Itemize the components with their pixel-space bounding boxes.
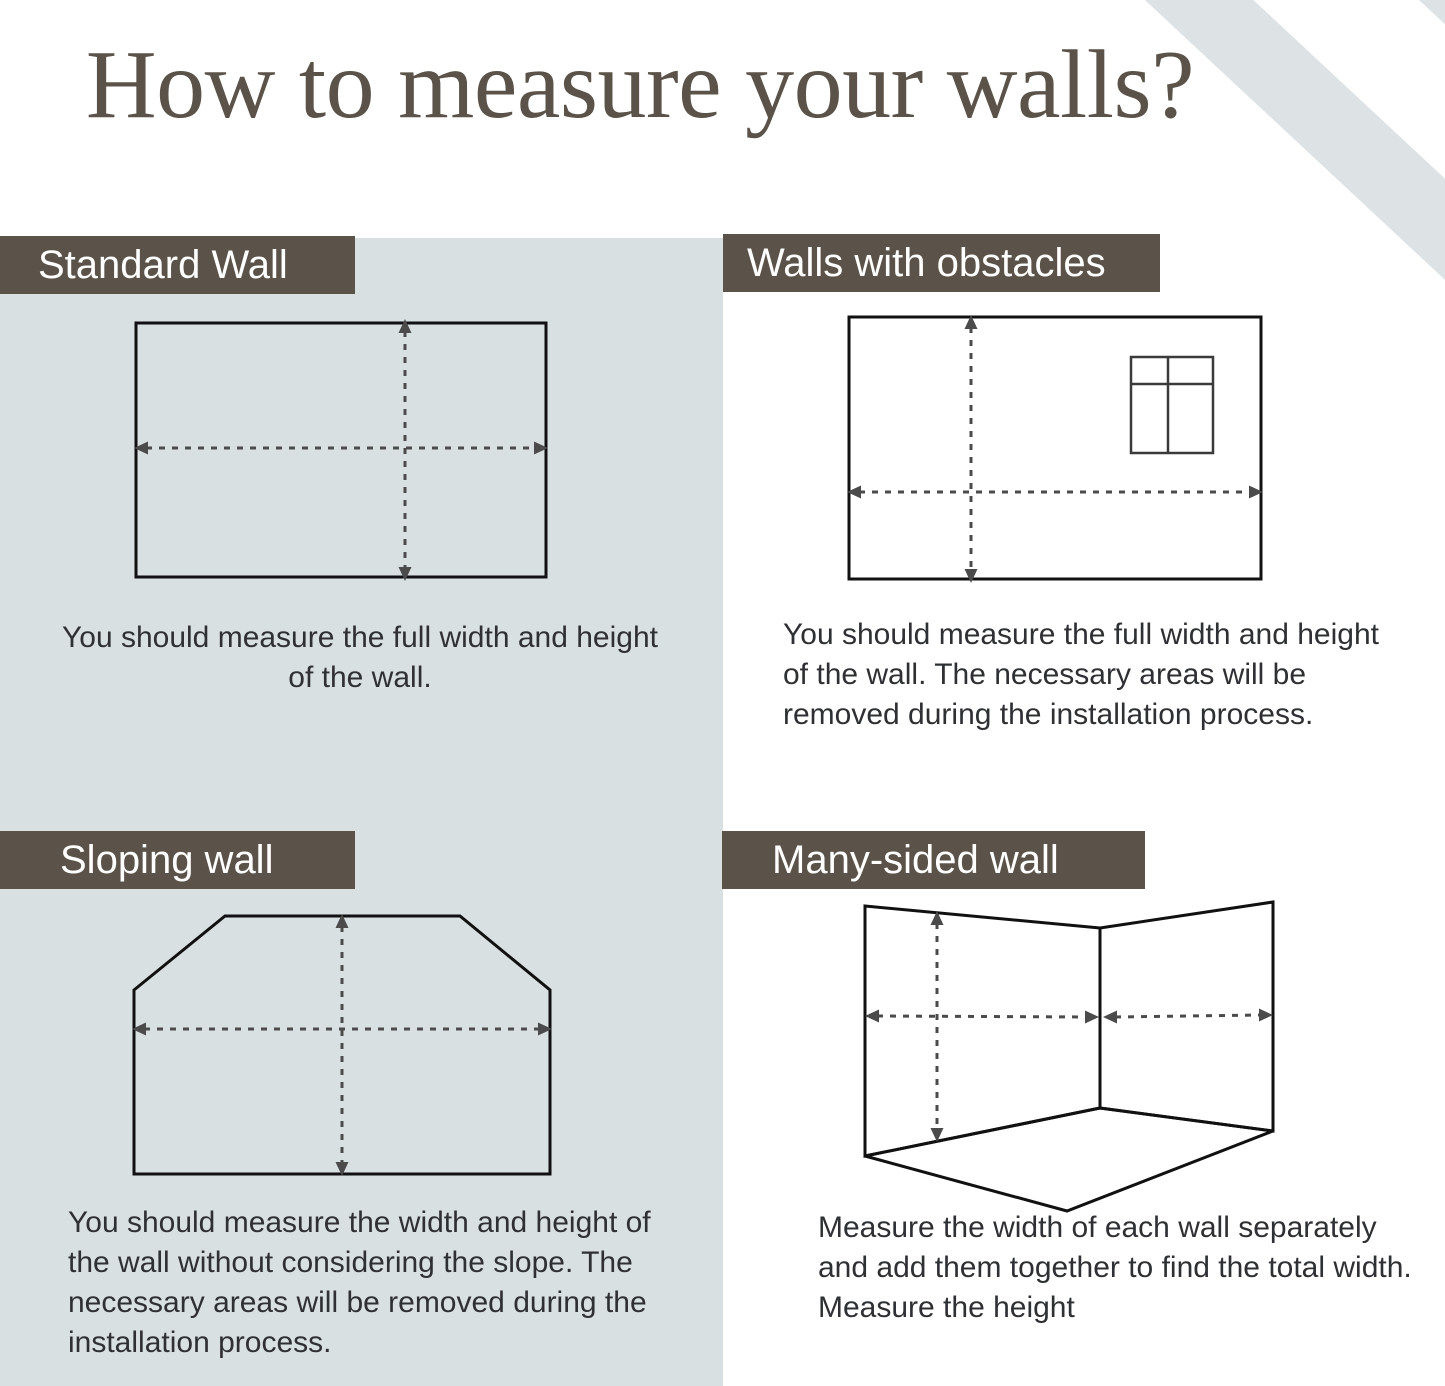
window-obstacle bbox=[1131, 357, 1213, 453]
section-header-standard-wall: Standard Wall bbox=[0, 236, 355, 294]
caption-sloping-wall: You should measure the width and height … bbox=[68, 1203, 668, 1363]
section-header-sloping-wall: Sloping wall bbox=[0, 831, 355, 889]
diagram-walls-with-obstacles bbox=[835, 305, 1285, 595]
diagram-standard-wall bbox=[120, 305, 570, 595]
diagram-many-sided-wall bbox=[845, 888, 1295, 1218]
caption-standard-wall: You should measure the full width and he… bbox=[60, 618, 660, 698]
page-title: How to measure your walls? bbox=[0, 34, 1280, 137]
infographic-page: How to measure your walls? Standard Wall bbox=[0, 0, 1445, 1386]
section-header-many-sided-wall: Many-sided wall bbox=[722, 831, 1145, 889]
diagram-sloping-wall bbox=[118, 900, 568, 1190]
section-header-walls-with-obstacles: Walls with obstacles bbox=[723, 234, 1160, 292]
caption-many-sided-wall: Measure the width of each wall separatel… bbox=[818, 1208, 1428, 1328]
caption-walls-with-obstacles: You should measure the full width and he… bbox=[783, 615, 1411, 735]
